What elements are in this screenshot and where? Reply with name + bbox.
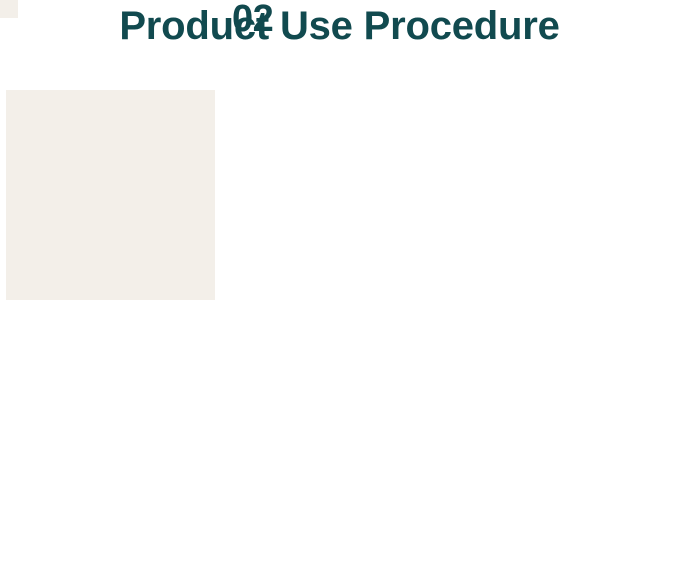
step-panel-06: 06 <box>0 0 18 18</box>
procedure-step-grid: 01 <box>0 0 679 583</box>
step-photo-06 <box>0 0 18 18</box>
step-photo-01 <box>6 90 215 300</box>
step-number-02: 02 <box>232 0 273 38</box>
step-panel-01: 01 <box>6 90 215 300</box>
